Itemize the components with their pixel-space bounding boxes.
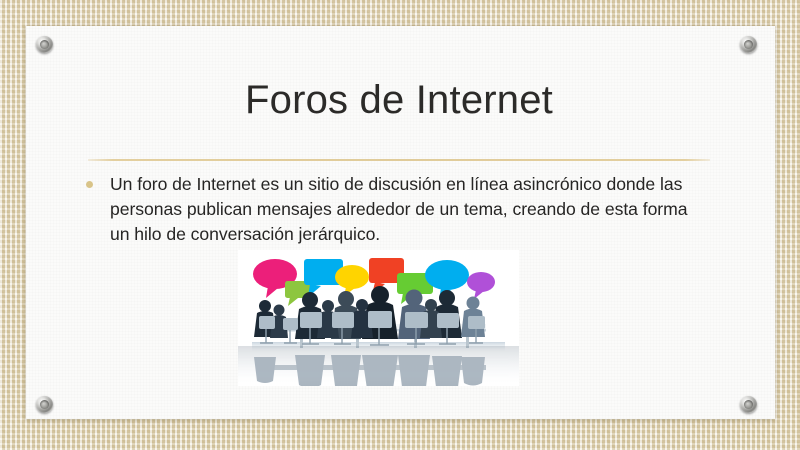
screw-icon-top-right (740, 36, 757, 53)
meeting-illustration-image (238, 250, 519, 386)
title-divider (88, 159, 710, 161)
bullet-point-icon (86, 181, 93, 188)
floor-reflection (238, 346, 519, 386)
bullet-item-label: Un foro de Internet es un sitio de discu… (110, 172, 696, 247)
screw-icon-bottom-right (740, 396, 757, 413)
page-title: Foros de Internet (88, 76, 710, 124)
list-item: Un foro de Internet es un sitio de discu… (86, 172, 696, 247)
screw-icon-bottom-left (36, 396, 53, 413)
body-content: Un foro de Internet es un sitio de discu… (86, 172, 696, 247)
screw-icon-top-left (36, 36, 53, 53)
meeting-illustration-svg (238, 250, 519, 386)
